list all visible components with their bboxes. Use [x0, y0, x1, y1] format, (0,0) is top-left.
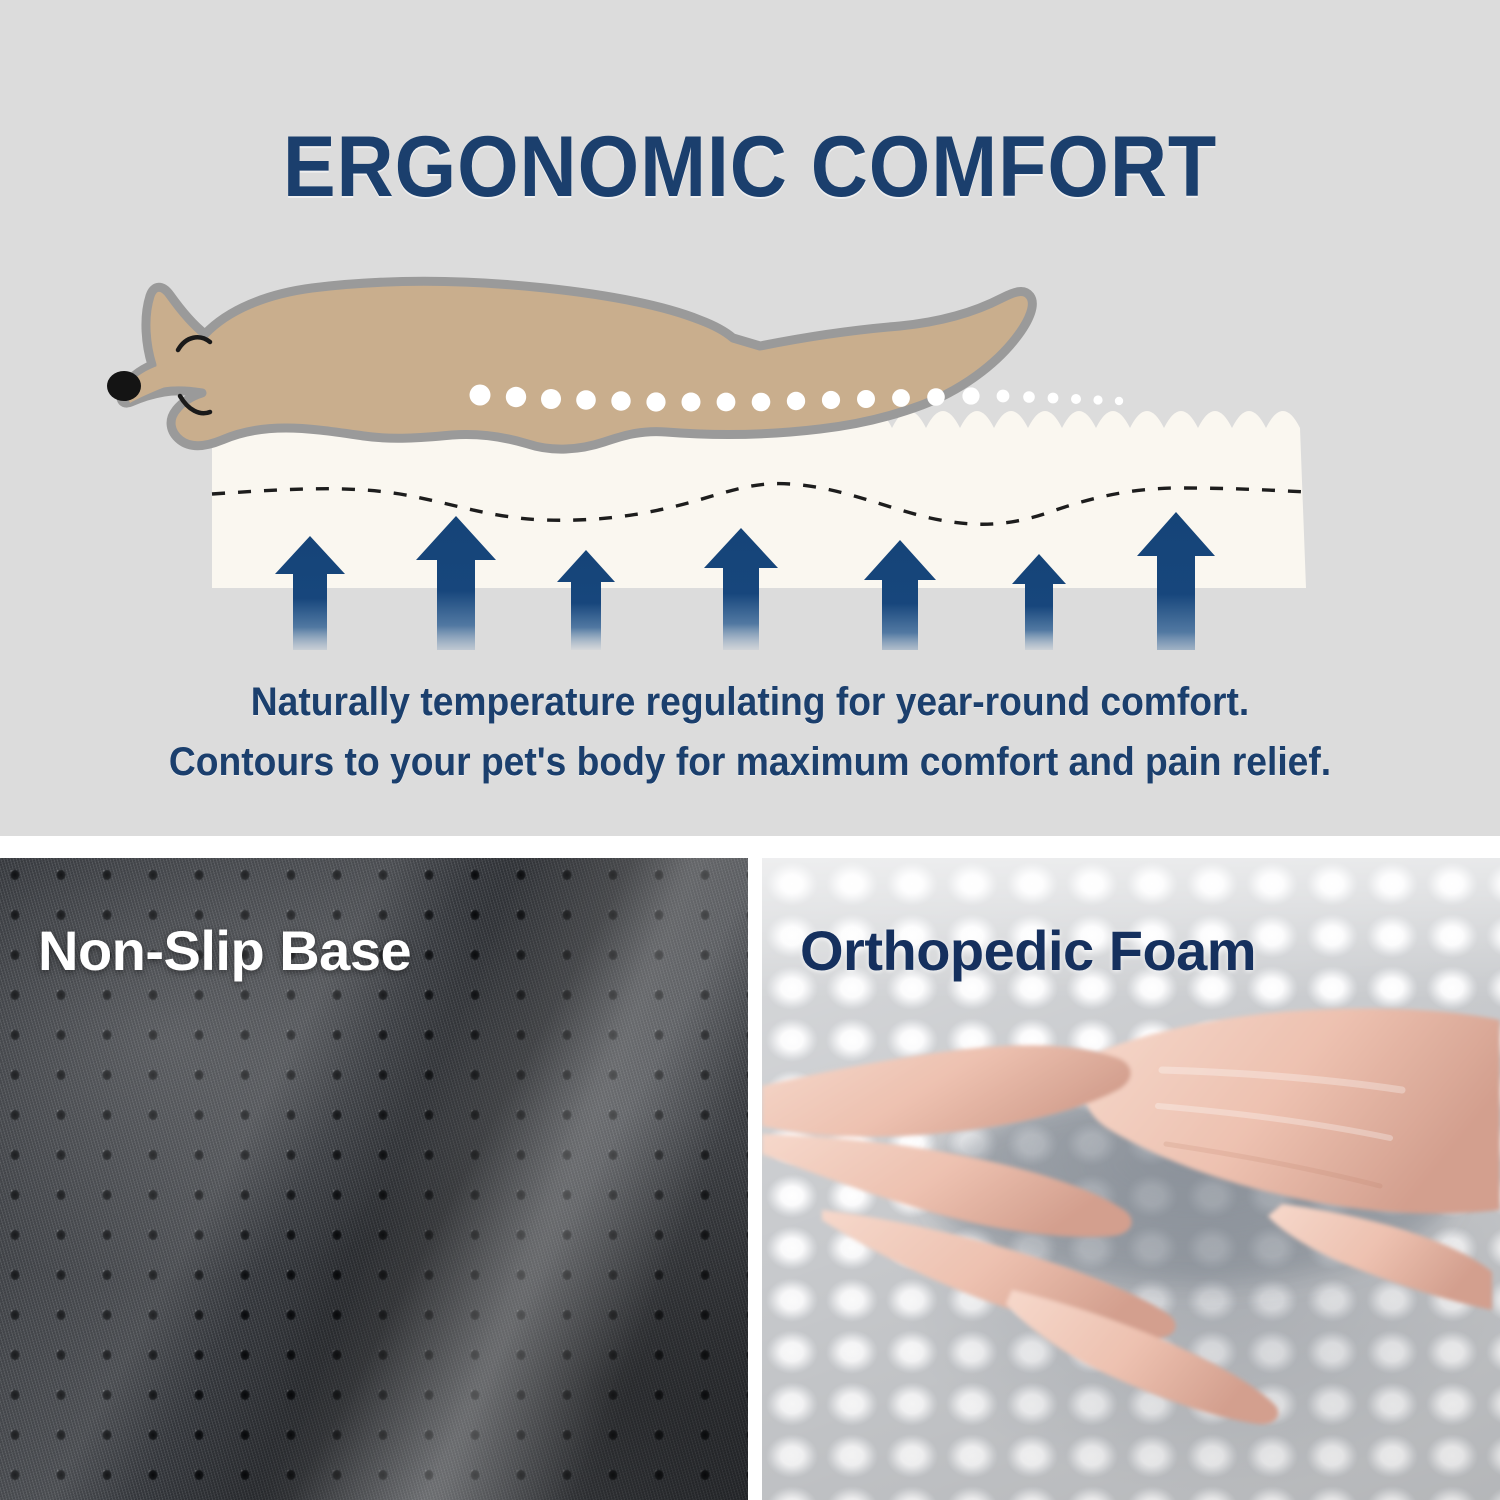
panel-orthopedic-foam: Orthopedic Foam — [762, 858, 1500, 1500]
ergonomic-illustration — [0, 250, 1500, 650]
caption-line-1: Naturally temperature regulating for yea… — [53, 672, 1448, 732]
panel-label-orthopedic-foam: Orthopedic Foam — [762, 918, 1500, 983]
page-title: ERGONOMIC COMFORT — [60, 118, 1440, 217]
panel-non-slip-base: Non-Slip Base — [0, 858, 748, 1500]
horizontal-divider — [0, 836, 1500, 858]
illustration-svg — [0, 250, 1500, 650]
caption-block: Naturally temperature regulating for yea… — [0, 672, 1500, 792]
infographic-page: ERGONOMIC COMFORT — [0, 0, 1500, 1500]
caption-line-2: Contours to your pet's body for maximum … — [53, 732, 1448, 792]
panel-label-non-slip-base: Non-Slip Base — [0, 918, 748, 983]
hero-panel: ERGONOMIC COMFORT — [0, 0, 1500, 836]
vertical-divider — [748, 858, 762, 1500]
dog-nose — [107, 371, 141, 401]
